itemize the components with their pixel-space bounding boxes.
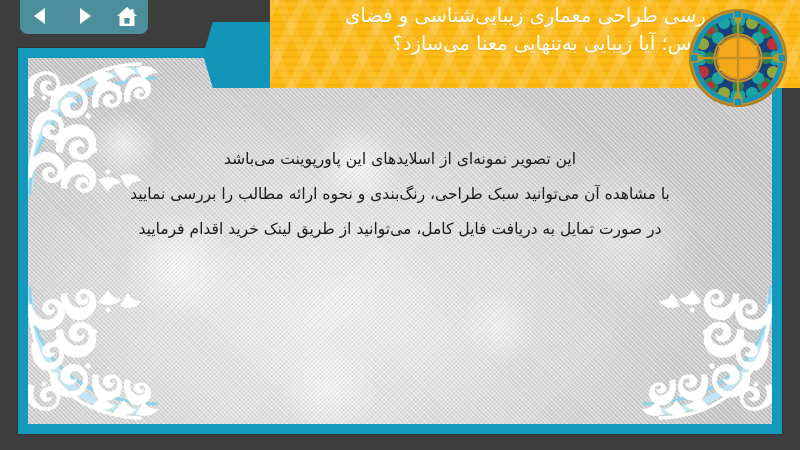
forward-button[interactable] — [67, 3, 101, 29]
arabesque-corner-ornament-icon — [592, 274, 772, 424]
slide-frame: این تصویر نمونه‌ای از اسلایدهای این پاور… — [18, 48, 782, 434]
navigation-toolbar — [20, 0, 148, 34]
slide-body-text: این تصویر نمونه‌ای از اسلایدهای این پاور… — [28, 142, 772, 247]
arabesque-corner-ornament-icon — [28, 274, 208, 424]
title-banner-tab — [203, 22, 273, 88]
slide-content-area: این تصویر نمونه‌ای از اسلایدهای این پاور… — [28, 58, 772, 424]
body-line: این تصویر نمونه‌ای از اسلایدهای این پاور… — [52, 142, 748, 177]
islamic-medallion-ornament-icon — [686, 6, 790, 110]
home-icon — [116, 6, 138, 27]
home-button[interactable] — [110, 3, 144, 29]
back-button[interactable] — [24, 3, 58, 29]
body-line: در صورت تمایل به دریافت فایل کامل، می‌تو… — [52, 212, 748, 247]
body-line: با مشاهده آن می‌توانید سبک طراحی، رنگ‌بن… — [52, 177, 748, 212]
triangle-left-icon — [31, 6, 51, 26]
triangle-right-icon — [74, 6, 94, 26]
slide-viewer: این تصویر نمونه‌ای از اسلایدهای این پاور… — [0, 0, 800, 450]
